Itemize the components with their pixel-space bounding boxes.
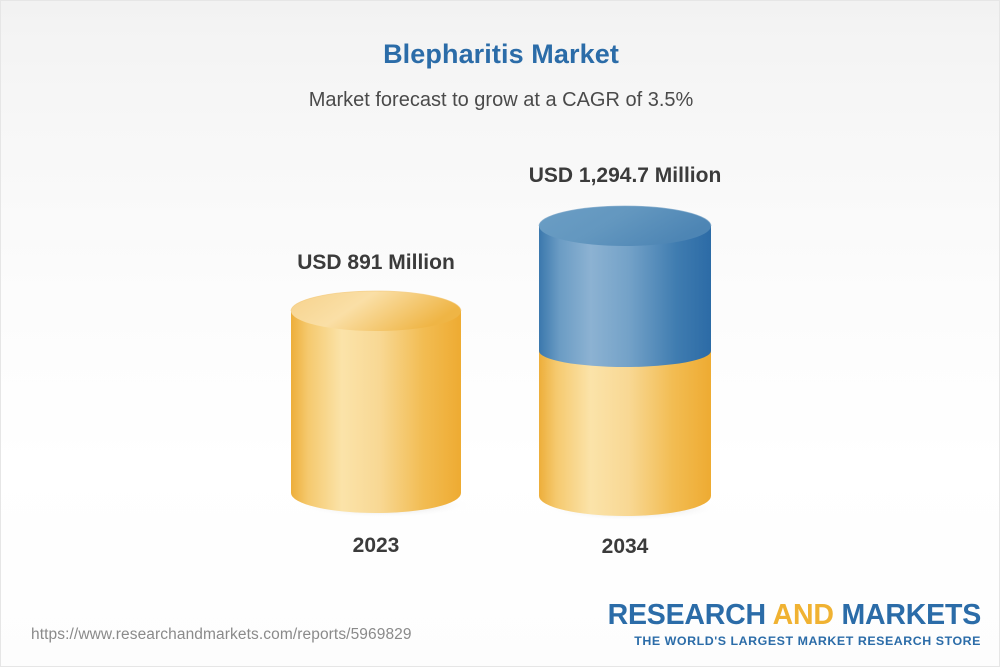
brand-word-markets: MARKETS [841, 599, 981, 631]
brand-word-research: RESEARCH [608, 599, 766, 631]
brand-wordmark: RESEARCH AND MARKETS [608, 601, 981, 631]
source-url[interactable]: https://www.researchandmarkets.com/repor… [31, 626, 412, 644]
cylinder-bar-2034[interactable] [539, 206, 711, 516]
brand-word-and: AND [773, 599, 834, 631]
value-label-2023: USD 891 Million [297, 251, 455, 275]
cylinder-bar-2023[interactable] [291, 291, 461, 513]
axis-label-2034: 2034 [602, 535, 649, 559]
brand-logo[interactable]: RESEARCH AND MARKETS THE WORLD'S LARGEST… [608, 601, 981, 648]
axis-label-2023: 2023 [353, 534, 400, 558]
value-label-2034: USD 1,294.7 Million [529, 164, 722, 188]
cylinder-2023-graphic [291, 291, 461, 513]
chart-card: Blepharitis Market Market forecast to gr… [0, 0, 1000, 667]
plot-area: USD 891 Million [1, 1, 1000, 601]
brand-tagline: THE WORLD'S LARGEST MARKET RESEARCH STOR… [608, 634, 981, 648]
cylinder-2034-graphic [539, 206, 711, 516]
